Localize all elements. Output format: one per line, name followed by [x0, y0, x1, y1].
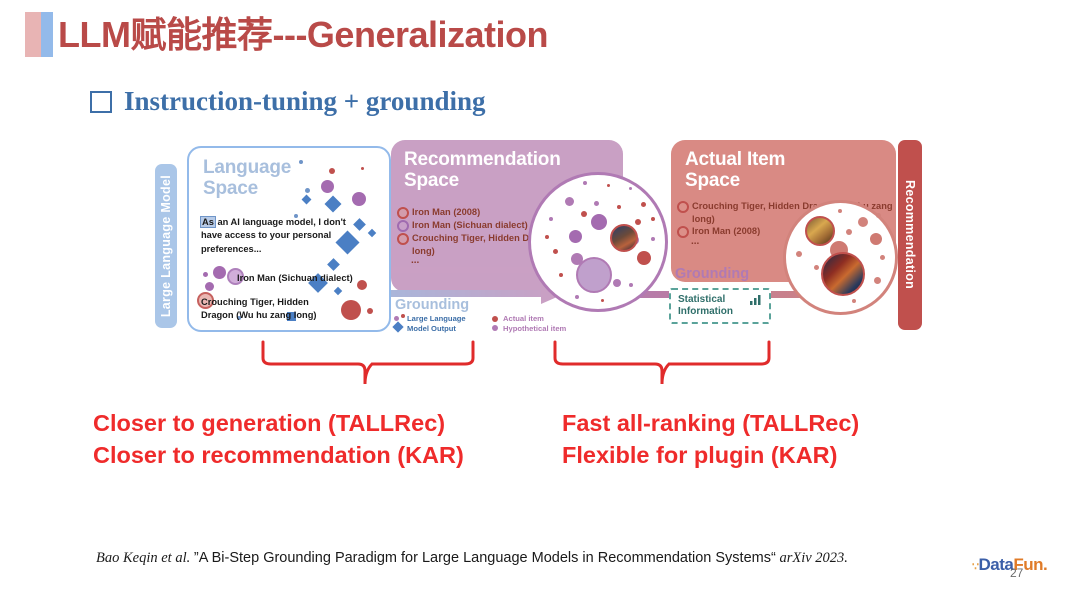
grounding-paradigm-diagram: Large Language Model Recommendation Actu… [155, 136, 920, 336]
annotation-left-line-2: Closer to recommendation (KAR) [93, 439, 464, 471]
annotation-right: Fast all-ranking (TALLRec) Flexible for … [562, 407, 859, 472]
actual-item-space-title: Actual ItemSpace [685, 150, 785, 191]
actual-item-ring [397, 233, 409, 245]
bar-chart-icon [750, 295, 762, 305]
statistical-information-box: StatisticalInformation [669, 288, 771, 324]
page-number: 27 [1010, 566, 1023, 580]
statistical-information-label: StatisticalInformation [678, 294, 733, 319]
recommendation-space-sphere [528, 172, 668, 312]
title-accent-bar-blue [41, 12, 53, 57]
legend-label-model-output: Large LanguageModel Output [407, 314, 466, 335]
annotation-right-line-1: Fast all-ranking (TALLRec) [562, 407, 859, 439]
list-item-label: Iron Man (2008) [412, 206, 480, 219]
page-title: LLM赋能推荐---Generalization [58, 12, 548, 57]
legend-dot-red-small [401, 314, 405, 318]
large-language-model-rail-label: Large Language Model [159, 175, 173, 317]
language-space-title: LanguageSpace [203, 158, 291, 199]
hypothetical-item-ring [397, 220, 409, 232]
bullet-row: Instruction-tuning + grounding [90, 86, 486, 117]
citation-authors: Bao Keqin et al. [96, 550, 194, 566]
bullet-label: Instruction-tuning + grounding [124, 86, 486, 117]
large-language-model-rail: Large Language Model [155, 164, 177, 328]
movie-poster-recommendation [610, 224, 638, 252]
recommendation-space-title: RecommendationSpace [404, 150, 561, 191]
annotation-brackets [255, 338, 805, 388]
language-space-panel: LanguageSpace As an AI language model, I… [187, 146, 391, 332]
legend-dot-actual-item [492, 316, 498, 322]
list-item-label: Iron Man (2008) [692, 225, 760, 238]
list-item-label: Iron Man (Sichuan dialect) [412, 219, 528, 232]
legend-dot-purple-small [394, 316, 399, 321]
movie-poster-crouching-tiger [805, 216, 835, 246]
highlighted-token: As [201, 217, 215, 227]
actual-item-ring [677, 226, 689, 238]
annotation-left-line-1: Closer to generation (TALLRec) [93, 407, 464, 439]
citation-paper-title: A Bi-Step Grounding Paradigm for Large L… [199, 550, 771, 566]
recommendation-rail: Recommendation [898, 140, 922, 330]
grounding-label-1: Grounding [395, 297, 469, 313]
recommendation-rail-label: Recommendation [903, 180, 917, 289]
language-space-quote-rest: an AI language model, I don't have acces… [201, 217, 346, 254]
movie-poster-iron-man [821, 252, 865, 296]
annotation-left: Closer to generation (TALLRec) Closer to… [93, 407, 464, 472]
actual-item-ring [677, 201, 689, 213]
citation-footer: Bao Keqin et al. ”A Bi-Step Grounding Pa… [96, 548, 896, 570]
checkbox-outline-icon [90, 91, 112, 113]
language-space-item-1: Iron Man (Sichuan dialect) [237, 272, 367, 285]
actual-item-ring [397, 207, 409, 219]
language-space-quote: As an AI language model, I don't have ac… [201, 216, 351, 256]
grounding-label-2: Grounding [675, 266, 749, 282]
legend-label-items: Actual itemHypothetical item [503, 314, 566, 335]
language-space-item-2: Crouching Tiger, Hidden Dragon (Wu hu za… [201, 296, 341, 322]
logo-prefix: Data [979, 555, 1014, 574]
citation-venue: arXiv 2023. [776, 550, 848, 566]
annotation-right-line-2: Flexible for plugin (KAR) [562, 439, 859, 471]
legend-dot-hypothetical-item [492, 325, 498, 331]
bracket-pair-svg [255, 338, 805, 388]
legend-diamond-blue [392, 321, 403, 332]
